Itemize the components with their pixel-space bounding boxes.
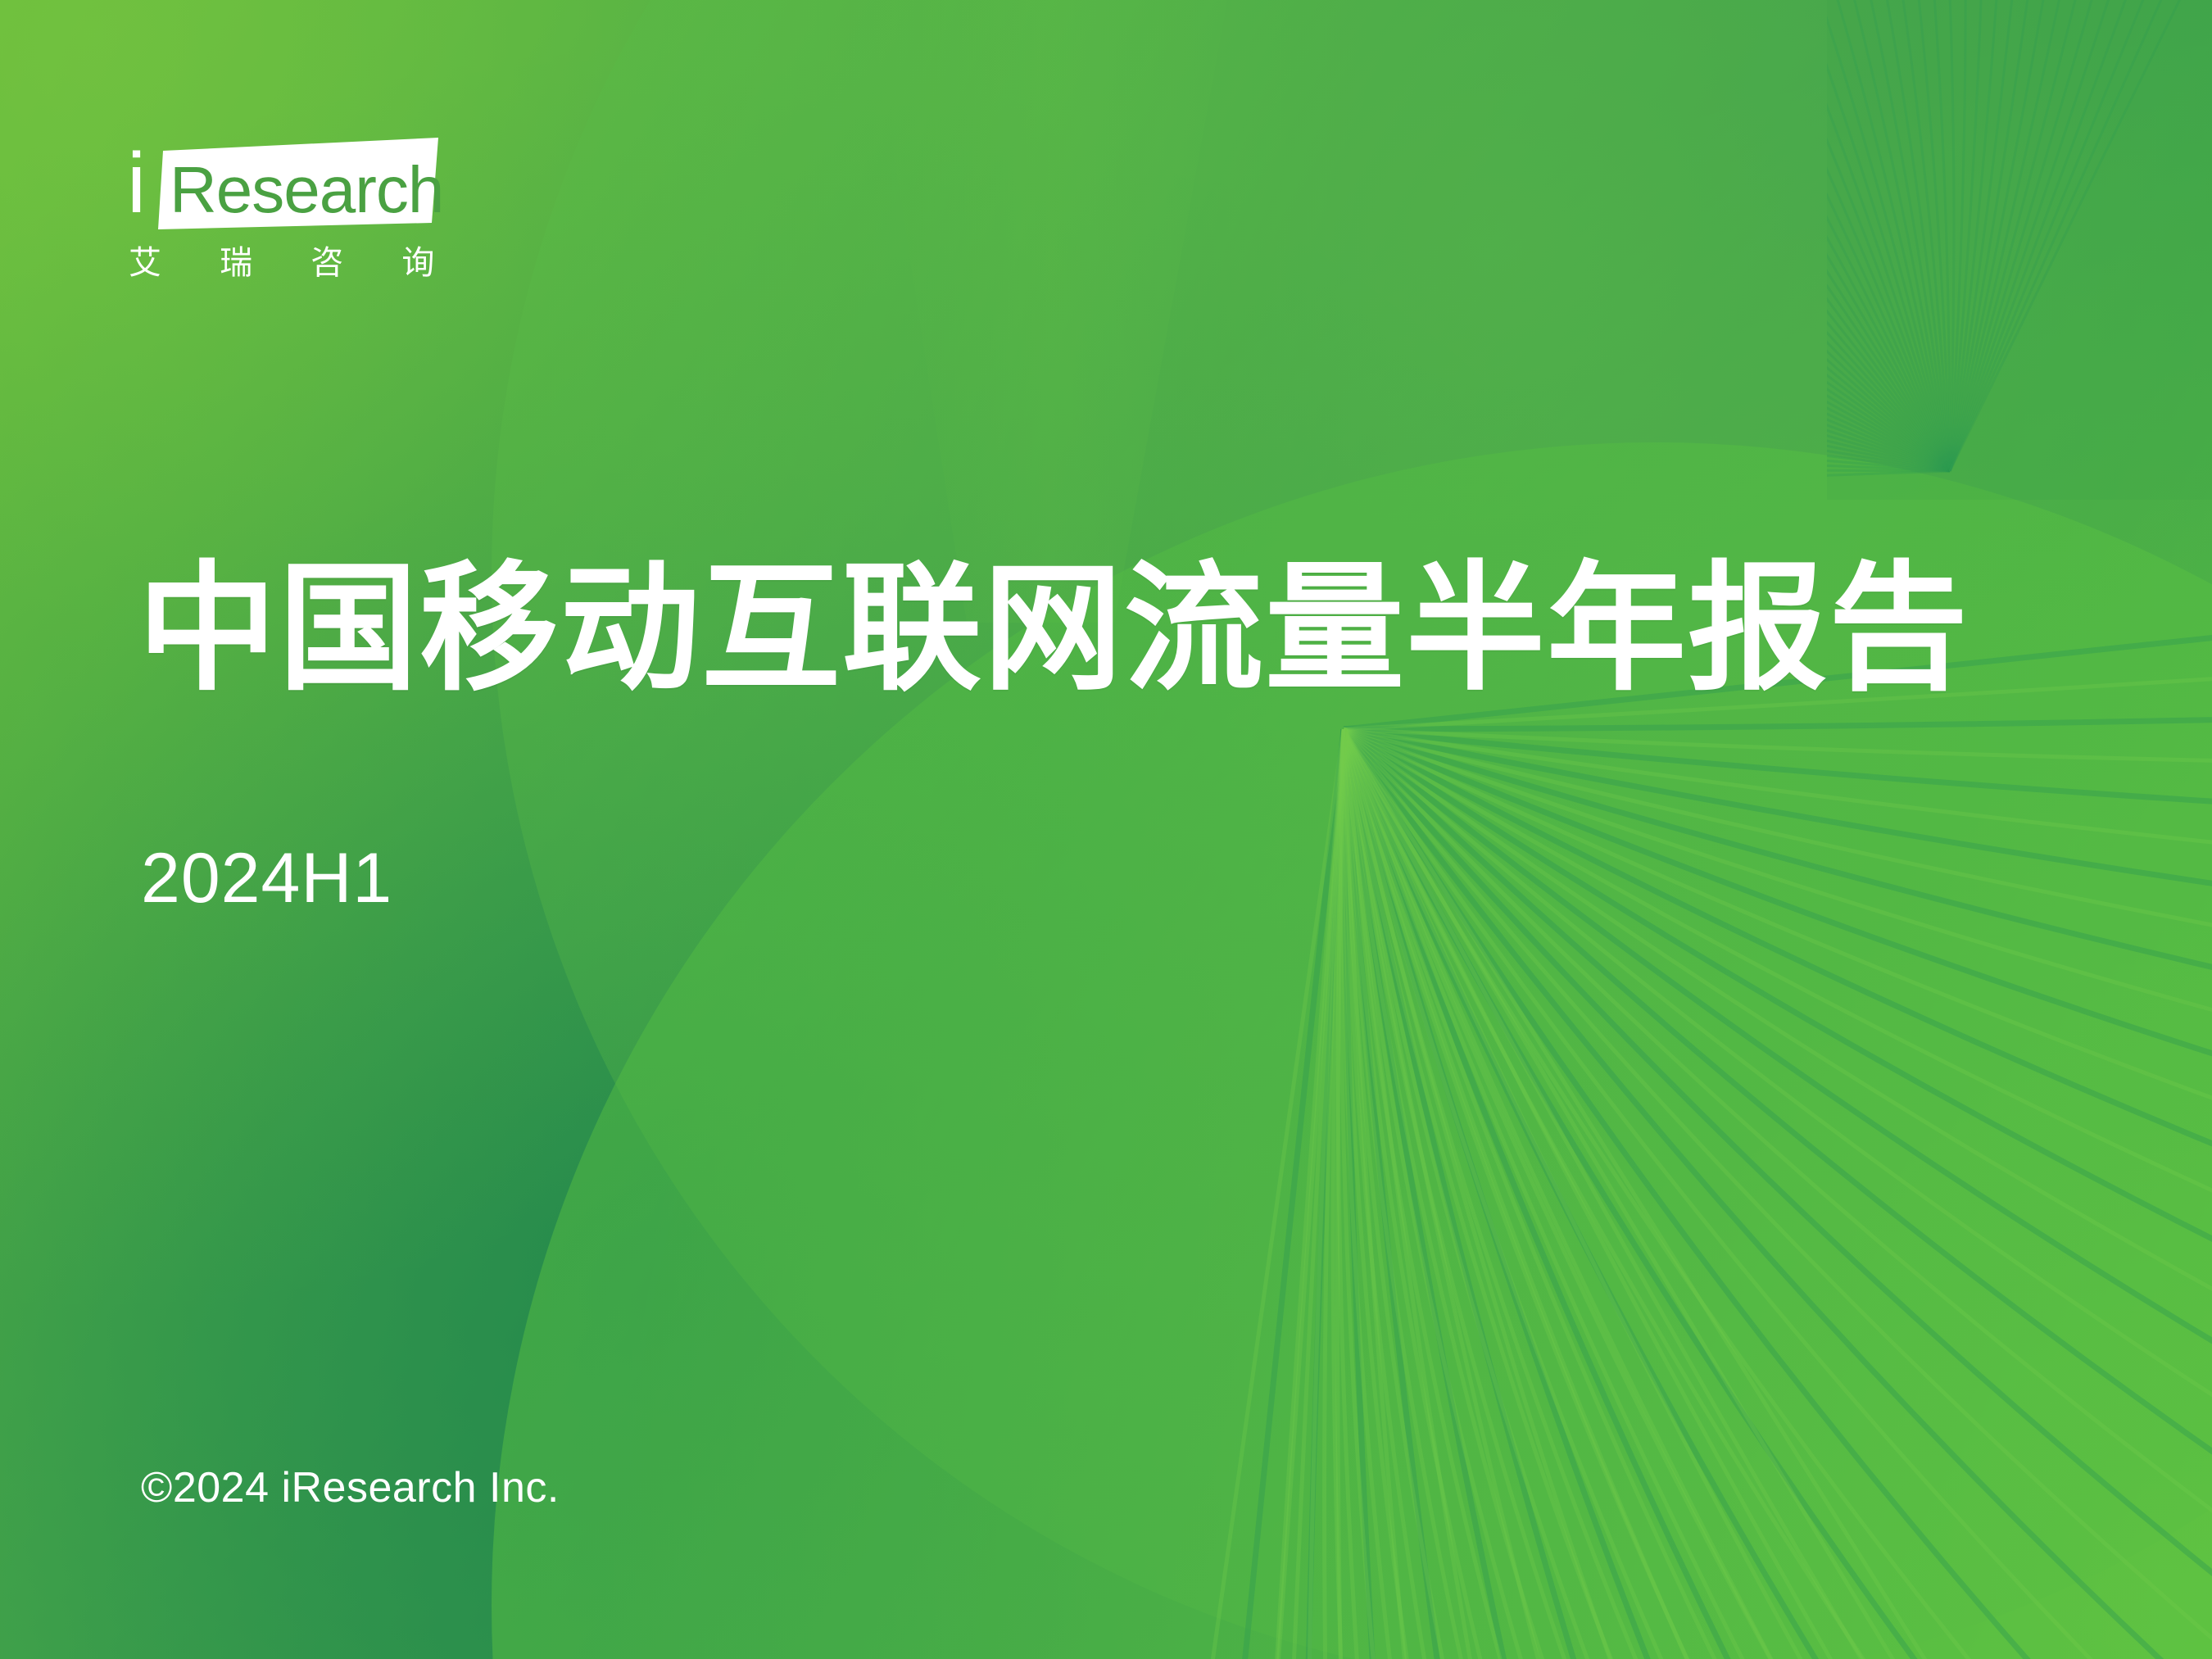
iresearch-logo: i Research 艾 瑞 咨 询 <box>127 138 471 314</box>
logo-mark: i Research <box>127 138 438 229</box>
page-title: 中国移动互联网流量半年报告 <box>138 551 2022 708</box>
copyright-notice: ©2024 iResearch Inc. <box>141 1462 560 1513</box>
logo-letter-i: i <box>127 144 155 229</box>
cover-slide: i Research 艾 瑞 咨 询 中国移动互联网流量半年报告 2024H1 … <box>0 0 2212 1659</box>
logo-chinese-name: 艾 瑞 咨 询 <box>129 244 459 282</box>
decor-corner-panel <box>1827 0 2212 500</box>
page-subtitle: 2024H1 <box>141 837 392 919</box>
logo-wordmark: Research <box>170 157 443 223</box>
